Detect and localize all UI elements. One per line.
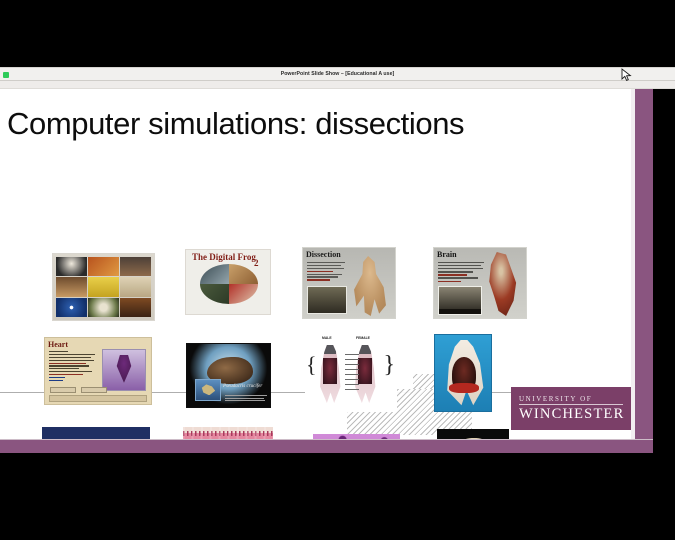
heart-anatomy-figure: [102, 349, 146, 391]
rat-male-figure: [317, 345, 343, 403]
slide-bottom-accent-band: [0, 440, 653, 453]
image-dissection-screen[interactable]: Dissection: [302, 247, 396, 319]
image-rat-male-female-diagram[interactable]: MALE FEMALE { }: [305, 334, 397, 412]
species-name-label: Pseudacris crucifer: [223, 384, 262, 389]
logo-university-text: UNIVERSITY OF: [519, 396, 631, 403]
brain-thumbnail: [438, 286, 482, 315]
cd-case-grid: [56, 257, 151, 317]
brain-screen-heading: Brain: [437, 250, 457, 259]
window-titlebar[interactable]: PowerPoint Slide Show – [Educational A u…: [0, 67, 675, 81]
species-description-lines: [225, 395, 267, 403]
logo-divider: [519, 404, 623, 405]
heart-screen-footer-bar: [49, 395, 147, 402]
dissection-screen-heading: Dissection: [306, 250, 341, 259]
logo-winchester-text: WINCHESTER: [519, 407, 631, 422]
frog-collage-circle: [200, 264, 258, 304]
heart-button-left[interactable]: [50, 387, 76, 393]
arrow-cursor-icon: [621, 68, 633, 82]
rat-leader-lines: [345, 354, 359, 394]
rat-left-brace: {: [306, 356, 317, 374]
dissection-thumbnail: [307, 286, 347, 314]
image-brain-screen[interactable]: Brain: [433, 247, 527, 319]
heart-screen-buttons[interactable]: [50, 387, 107, 393]
rat-organ-highlight: [449, 383, 479, 393]
image-frog-species-photo[interactable]: Pseudacris crucifer: [186, 343, 271, 408]
species-range-map: [195, 379, 221, 401]
brain-text-lines: [438, 262, 486, 284]
rat-right-brace: }: [383, 356, 395, 375]
heart-text-lines: [49, 351, 97, 383]
rat-label-female: FEMALE: [356, 336, 370, 340]
dissection-text-lines: [307, 262, 347, 282]
slide-title: Computer simulations: dissections: [7, 106, 464, 142]
university-logo: UNIVERSITY OF WINCHESTER: [511, 387, 631, 430]
image-rat-dissection-photo[interactable]: [434, 334, 492, 412]
powerpoint-slide[interactable]: Computer simulations: dissections The Di…: [0, 89, 653, 453]
heart-screen-heading: Heart: [48, 340, 68, 349]
image-digital-frog-cover[interactable]: The Digital Frog 2: [185, 249, 271, 315]
frog-anatomy-figure: [351, 256, 389, 316]
digital-frog-title: The Digital Frog: [192, 252, 256, 262]
window-toolbar-strip: [0, 81, 675, 89]
recording-dot-icon: [3, 72, 9, 78]
image-heart-screen[interactable]: Heart: [44, 337, 152, 405]
slide-right-accent-inner: [631, 89, 635, 453]
brain-anatomy-figure: [480, 252, 522, 316]
window-title: PowerPoint Slide Show – [Educational A u…: [281, 71, 395, 77]
rat-label-male: MALE: [322, 336, 332, 340]
image-cd-cases-photo[interactable]: [52, 253, 155, 321]
heart-button-right[interactable]: [81, 387, 107, 393]
screen: PowerPoint Slide Show – [Educational A u…: [0, 0, 675, 540]
